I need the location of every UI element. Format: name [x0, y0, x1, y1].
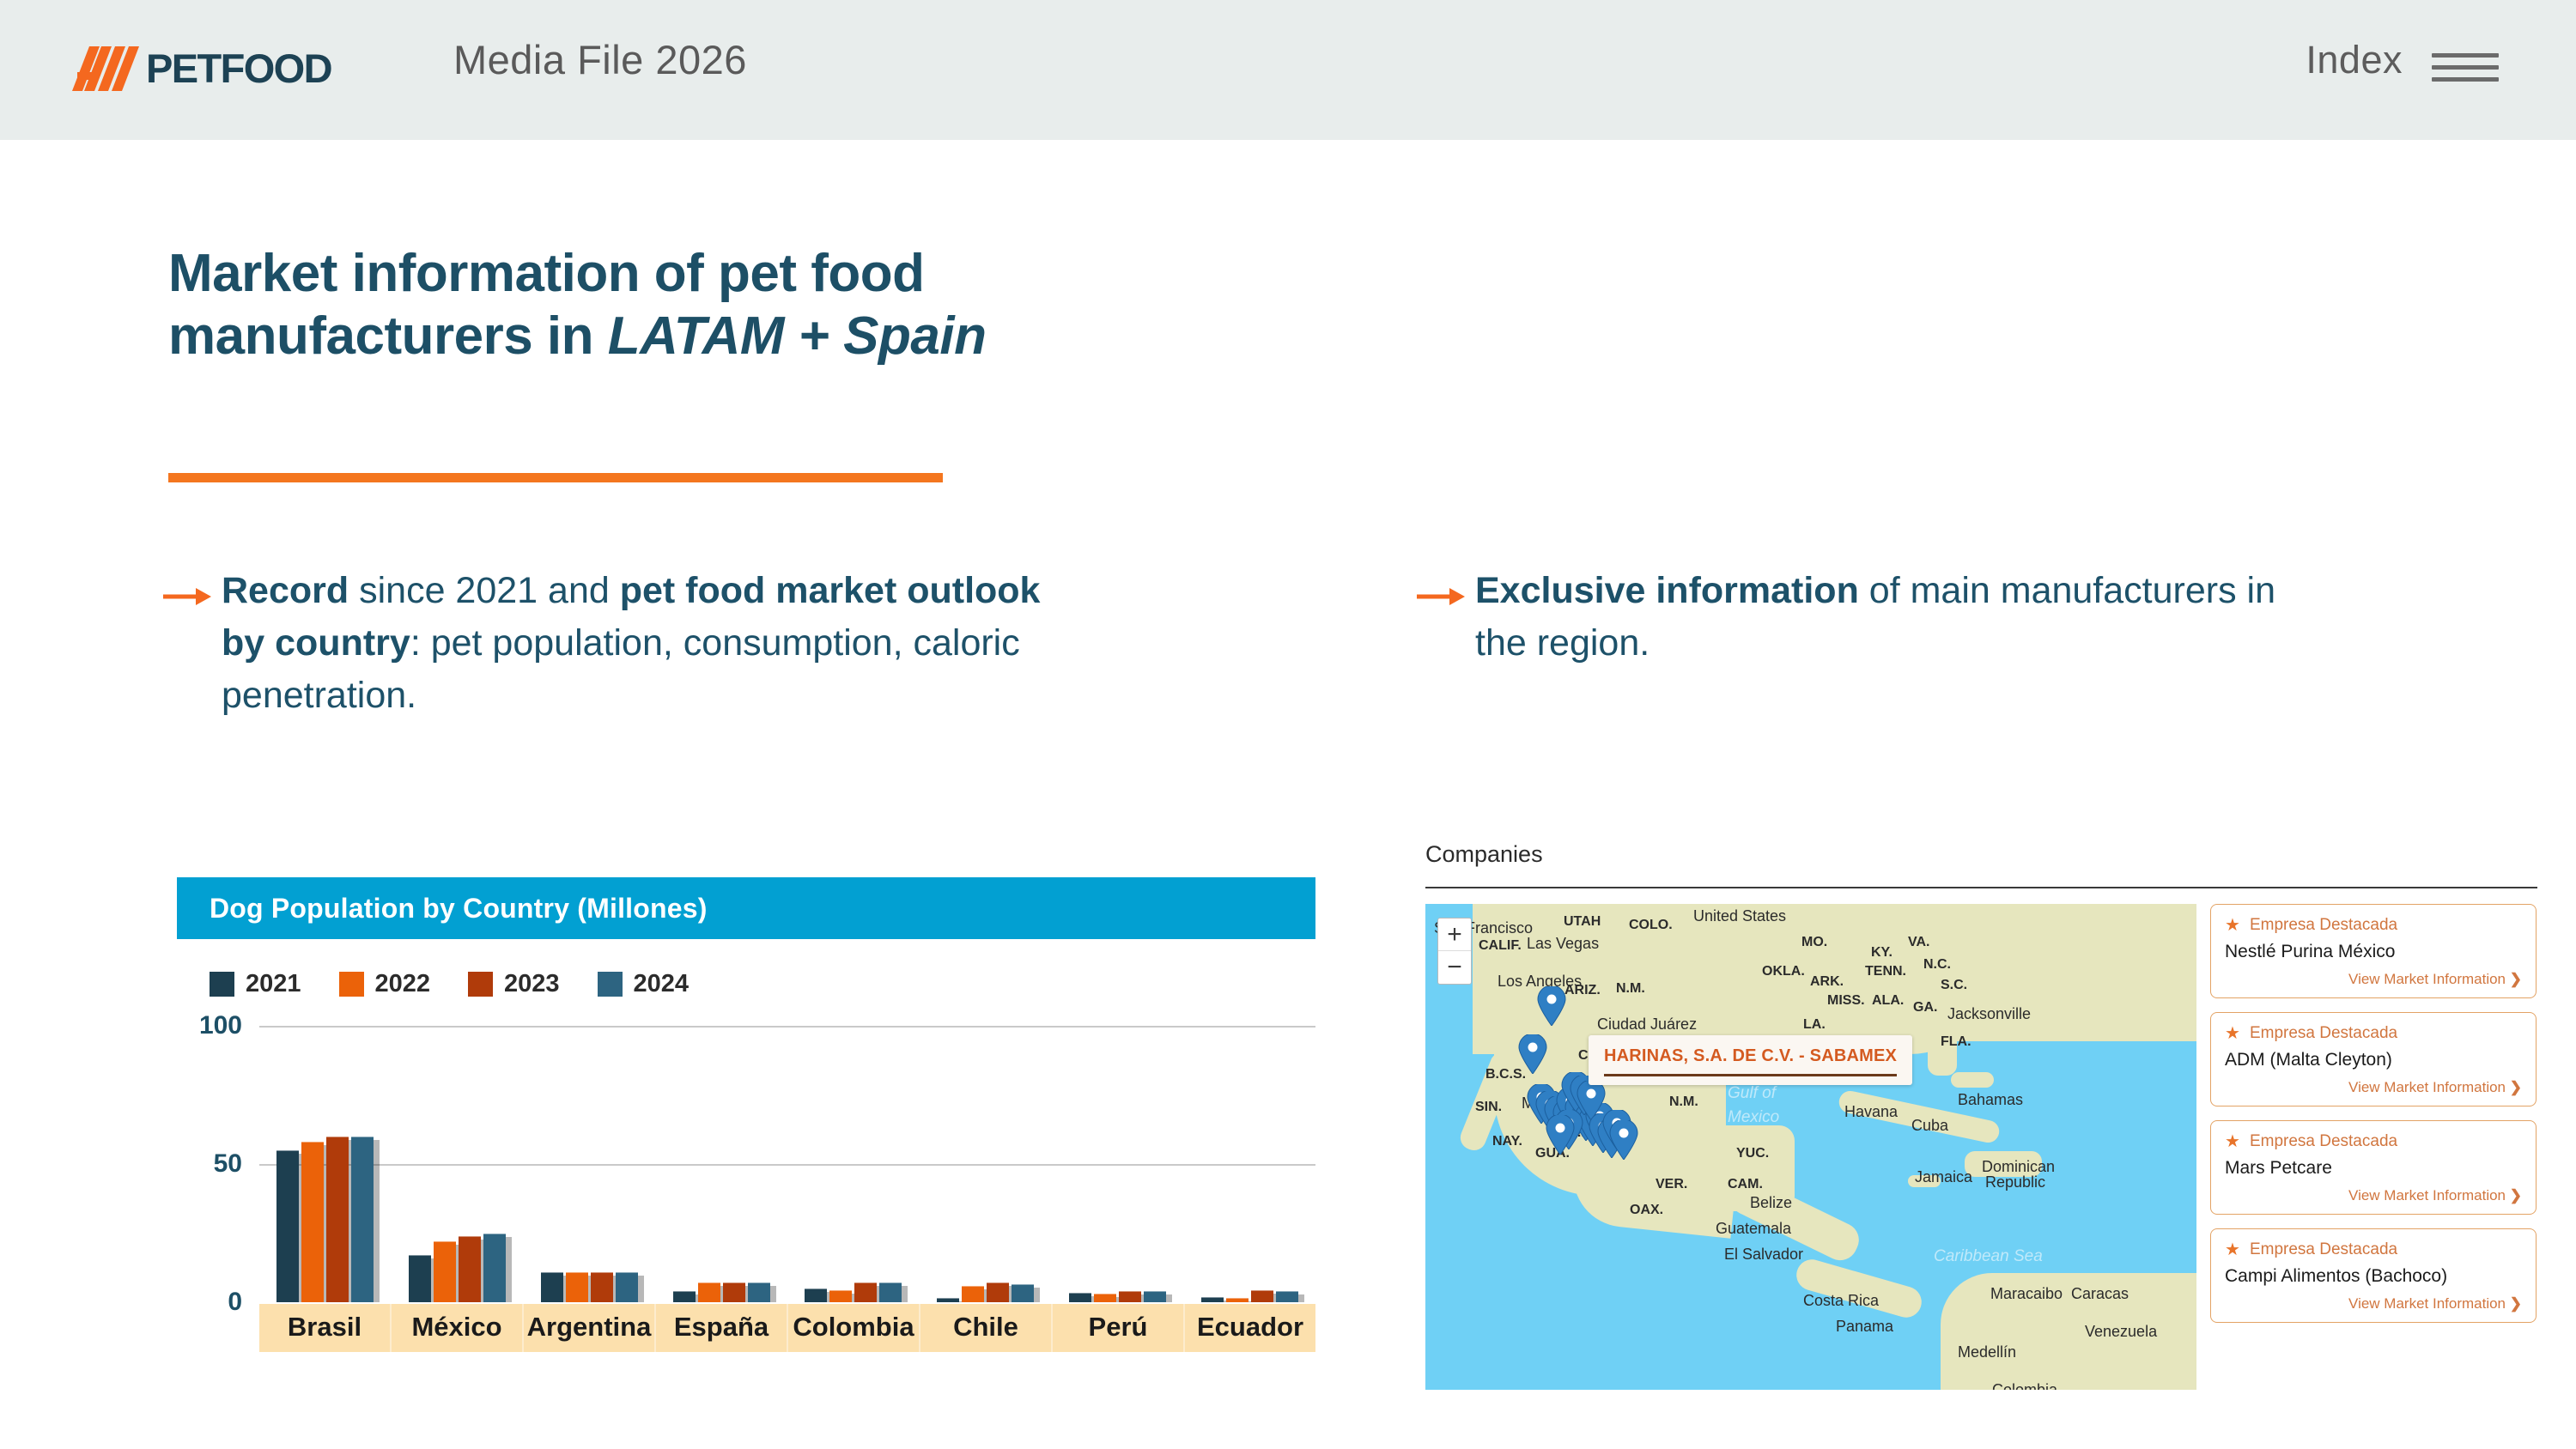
- chart-bar: [301, 1142, 324, 1302]
- map-city-label: Colombia: [1992, 1381, 2057, 1390]
- map-region-label: ALA.: [1872, 993, 1904, 1009]
- x-axis-category-label: Ecuador: [1185, 1302, 1315, 1352]
- map-region-label: CALIF.: [1479, 938, 1522, 954]
- view-market-information-link[interactable]: View Market Information ❯: [2225, 971, 2522, 988]
- companies-map-panel: Companies + − Gulf ofMexicoCaribbean Sea…: [1425, 841, 2537, 1390]
- x-axis-category-label: Brasil: [259, 1302, 392, 1352]
- top-header-bar: PETFOOD Media File 2026 Index: [0, 0, 2576, 140]
- chart-bar-groups: [259, 1026, 1315, 1302]
- chart-bar: [1069, 1293, 1091, 1302]
- chart-bar: [1012, 1284, 1034, 1302]
- company-name: Mars Petcare: [2225, 1158, 2522, 1179]
- bullet-left-part-1: since 2021 and: [349, 570, 620, 611]
- index-link[interactable]: Index: [2306, 38, 2403, 82]
- map-city-label: Belize: [1750, 1194, 1792, 1212]
- chart-bar: [698, 1282, 720, 1302]
- map-city-label: Cuba: [1911, 1117, 1948, 1135]
- map-tooltip-title: HARINAS, S.A. DE C.V. - SABAMEX: [1604, 1046, 1897, 1066]
- map-city-label: Las Vegas: [1527, 935, 1599, 953]
- chart-bar: [566, 1272, 588, 1302]
- companies-heading: Companies: [1425, 841, 2537, 868]
- page-title: Market information of pet food manufactu…: [168, 242, 1628, 367]
- chart-plot-area: 050100: [177, 1026, 1315, 1302]
- map-region-label: CAM.: [1728, 1177, 1763, 1192]
- map-city-label: Ciudad Juárez: [1597, 1016, 1697, 1034]
- company-badge: Empresa Destacada: [2250, 916, 2397, 935]
- chart-legend: 2021202220232024: [177, 939, 1315, 998]
- view-market-information-link[interactable]: View Market Information ❯: [2225, 1295, 2522, 1313]
- page-title-emphasis: LATAM + Spain: [608, 306, 987, 366]
- legend-label: 2024: [634, 970, 690, 998]
- bullet-left: Record since 2021 and pet food market ou…: [163, 565, 1091, 722]
- chart-title-bar: Dog Population by Country (Millones): [177, 877, 1315, 939]
- view-market-information-link[interactable]: View Market Information ❯: [2225, 1187, 2522, 1204]
- map-city-label: Jacksonville: [1947, 1005, 2031, 1023]
- map-city-label: Medellín: [1958, 1343, 2016, 1361]
- land-costa-rica-panama: [1793, 1256, 1925, 1321]
- map-region-label: TENN.: [1865, 964, 1906, 979]
- title-underline-rule: [168, 473, 943, 482]
- map-city-label: Panama: [1836, 1318, 1893, 1336]
- legend-item: 2023: [468, 970, 560, 998]
- map-region-label: GA.: [1913, 1000, 1937, 1016]
- legend-swatch-icon: [339, 972, 364, 997]
- map-sea-label: Mexico: [1728, 1108, 1779, 1127]
- chart-bar: [616, 1272, 638, 1302]
- chart-bar: [1226, 1298, 1249, 1302]
- map-city-label: El Salvador: [1724, 1246, 1803, 1264]
- company-card-list: ★Empresa DestacadaNestlé Purina MéxicoVi…: [2210, 904, 2537, 1390]
- star-icon: ★: [2225, 917, 2240, 934]
- bar-group: [787, 1026, 920, 1302]
- y-axis-tick-label: 50: [177, 1149, 242, 1179]
- bar-group: [920, 1026, 1052, 1302]
- map-region-label: VER.: [1656, 1177, 1687, 1192]
- map-region-label: FLA.: [1941, 1034, 1971, 1050]
- company-name: Nestlé Purina México: [2225, 942, 2522, 962]
- legend-label: 2022: [375, 970, 431, 998]
- chart-bar: [591, 1272, 613, 1302]
- company-card[interactable]: ★Empresa DestacadaNestlé Purina MéxicoVi…: [2210, 904, 2537, 998]
- chart-bar: [1251, 1290, 1273, 1302]
- x-axis-category-label: Chile: [920, 1302, 1053, 1352]
- map-city-label: Caracas: [2071, 1285, 2129, 1303]
- x-axis-category-label: Perú: [1053, 1302, 1185, 1352]
- chart-bar: [541, 1272, 563, 1302]
- dog-population-chart: Dog Population by Country (Millones) 202…: [177, 877, 1315, 1352]
- map-region-label: N.M.: [1616, 981, 1645, 997]
- map-region-label: ARK.: [1810, 974, 1844, 990]
- company-name: ADM (Malta Cleyton): [2225, 1050, 2522, 1070]
- map-region-label: YUC.: [1736, 1146, 1769, 1161]
- chart-bar: [483, 1234, 506, 1303]
- chart-bar: [723, 1282, 745, 1302]
- bullet-left-text: Record since 2021 and pet food market ou…: [222, 565, 1091, 722]
- bullet-right-text: Exclusive information of main manufactur…: [1475, 565, 2327, 670]
- map-region-label: MISS.: [1827, 993, 1865, 1009]
- x-axis-category-label: Argentina: [524, 1302, 656, 1352]
- arrow-right-icon: [163, 565, 222, 722]
- company-card[interactable]: ★Empresa DestacadaMars PetcareView Marke…: [2210, 1120, 2537, 1215]
- y-axis-tick-label: 0: [177, 1288, 242, 1317]
- map-city-label: Jamaica: [1915, 1168, 1972, 1186]
- legend-label: 2021: [246, 970, 301, 998]
- legend-swatch-icon: [468, 972, 493, 997]
- legend-item: 2024: [598, 970, 690, 998]
- chart-bar: [748, 1282, 770, 1302]
- chart-bar: [276, 1150, 299, 1302]
- legend-item: 2021: [210, 970, 301, 998]
- map-city-label: Guatemala: [1716, 1220, 1791, 1238]
- view-market-information-link[interactable]: View Market Information ❯: [2225, 1079, 2522, 1096]
- companies-divider: [1425, 887, 2537, 888]
- chart-bar: [805, 1288, 827, 1302]
- chart-bar: [673, 1291, 696, 1302]
- interactive-map[interactable]: + − Gulf ofMexicoCaribbean SeaUTAHCOLO.U…: [1425, 904, 2196, 1390]
- map-region-label: ARIZ.: [1564, 983, 1601, 998]
- map-region-label: MO.: [1801, 935, 1827, 950]
- map-region-label: NAY.: [1492, 1134, 1522, 1149]
- map-region-label: OKLA.: [1762, 964, 1805, 979]
- chart-bar: [326, 1137, 349, 1302]
- map-location-pin[interactable]: [1537, 986, 1566, 1026]
- land-bahamas: [1951, 1072, 1994, 1088]
- arrow-right-icon: [1417, 565, 1475, 670]
- map-tooltip-underline: [1604, 1074, 1897, 1076]
- brand-logo[interactable]: PETFOOD: [72, 45, 331, 92]
- media-file-title: Media File 2026: [453, 36, 747, 83]
- bar-group: [1183, 1026, 1315, 1302]
- chart-bar: [854, 1282, 877, 1302]
- legend-swatch-icon: [210, 972, 234, 997]
- bar-group: [524, 1026, 656, 1302]
- legend-swatch-icon: [598, 972, 623, 997]
- land-colombia-venezuela: [1941, 1273, 2196, 1390]
- chart-bar: [879, 1282, 902, 1302]
- hamburger-menu-icon[interactable]: [2432, 53, 2499, 82]
- x-axis-category-label: Colombia: [788, 1302, 920, 1352]
- company-badge: Empresa Destacada: [2250, 1132, 2397, 1151]
- map-sea-label: Caribbean Sea: [1934, 1247, 2043, 1266]
- map-zoom-in-button[interactable]: +: [1438, 919, 1471, 951]
- chart-bar: [1201, 1297, 1224, 1302]
- map-region-label: LA.: [1803, 1017, 1826, 1033]
- chart-bar: [1276, 1291, 1298, 1302]
- map-city-label: Republic: [1985, 1173, 2045, 1191]
- map-tooltip[interactable]: HARINAS, S.A. DE C.V. - SABAMEX: [1589, 1035, 1912, 1085]
- chart-title: Dog Population by Country (Millones): [210, 893, 708, 925]
- bullet-left-part-0: Record: [222, 570, 349, 611]
- map-city-label: United States: [1693, 907, 1786, 925]
- map-location-pin[interactable]: [1609, 1120, 1638, 1160]
- bullet-right-part-0: Exclusive information: [1475, 570, 1859, 611]
- map-region-label: N.C.: [1923, 957, 1951, 973]
- company-name: Campi Alimentos (Bachoco): [2225, 1266, 2522, 1287]
- chart-bar: [459, 1236, 481, 1302]
- company-card[interactable]: ★Empresa DestacadaCampi Alimentos (Bacho…: [2210, 1228, 2537, 1323]
- x-axis-category-label: España: [656, 1302, 788, 1352]
- chart-bar: [937, 1298, 959, 1302]
- petfood-a-bars-logo-icon: [72, 46, 143, 91]
- axis-baseline: [259, 1302, 1315, 1304]
- star-icon: ★: [2225, 1025, 2240, 1042]
- chart-bar: [987, 1282, 1009, 1302]
- map-zoom-controls[interactable]: + −: [1437, 918, 1472, 985]
- legend-item: 2022: [339, 970, 431, 998]
- map-city-label: Venezuela: [2085, 1323, 2157, 1341]
- bar-group: [259, 1026, 392, 1302]
- legend-label: 2023: [504, 970, 560, 998]
- star-icon: ★: [2225, 1241, 2240, 1258]
- chart-bar: [1144, 1291, 1166, 1302]
- map-zoom-out-button[interactable]: −: [1438, 951, 1471, 984]
- map-region-label: N.M.: [1669, 1094, 1698, 1110]
- chart-bar: [962, 1286, 984, 1302]
- chart-x-axis-labels: BrasilMéxicoArgentinaEspañaColombiaChile…: [259, 1302, 1315, 1352]
- y-axis-tick-label: 100: [177, 1011, 242, 1040]
- page-title-line1: Market information of pet food: [168, 244, 925, 303]
- chart-bar: [1094, 1294, 1116, 1302]
- company-badge: Empresa Destacada: [2250, 1024, 2397, 1043]
- bar-group: [655, 1026, 787, 1302]
- chart-bar: [1119, 1291, 1141, 1302]
- bullet-right: Exclusive information of main manufactur…: [1417, 565, 2327, 670]
- chart-bar: [434, 1241, 456, 1302]
- bar-group: [1052, 1026, 1184, 1302]
- map-region-label: OAX.: [1630, 1203, 1663, 1218]
- bar-group: [392, 1026, 524, 1302]
- chart-bar: [409, 1255, 431, 1302]
- x-axis-category-label: México: [392, 1302, 524, 1352]
- map-region-label: COLO.: [1629, 918, 1673, 933]
- chart-bar: [351, 1137, 374, 1302]
- map-region-label: SIN.: [1475, 1100, 1502, 1115]
- page-title-line2: manufacturers in: [168, 306, 608, 366]
- map-city-label: Bahamas: [1958, 1091, 2023, 1109]
- map-region-label: UTAH: [1564, 914, 1601, 930]
- map-city-label: Maracaibo: [1990, 1285, 2063, 1303]
- star-icon: ★: [2225, 1133, 2240, 1150]
- map-sea-label: Gulf of: [1728, 1084, 1776, 1103]
- company-badge: Empresa Destacada: [2250, 1240, 2397, 1259]
- map-location-pin[interactable]: [1518, 1034, 1547, 1074]
- map-city-label: Havana: [1844, 1103, 1898, 1121]
- map-region-label: S.C.: [1941, 978, 1967, 993]
- company-card[interactable]: ★Empresa DestacadaADM (Malta Cleyton)Vie…: [2210, 1012, 2537, 1106]
- map-location-pin[interactable]: [1546, 1115, 1575, 1155]
- chart-bar: [829, 1290, 852, 1302]
- map-region-label: VA.: [1908, 935, 1929, 950]
- map-city-label: Costa Rica: [1803, 1292, 1879, 1310]
- map-region-label: KY.: [1871, 945, 1893, 961]
- brand-logo-text: PETFOOD: [146, 45, 331, 92]
